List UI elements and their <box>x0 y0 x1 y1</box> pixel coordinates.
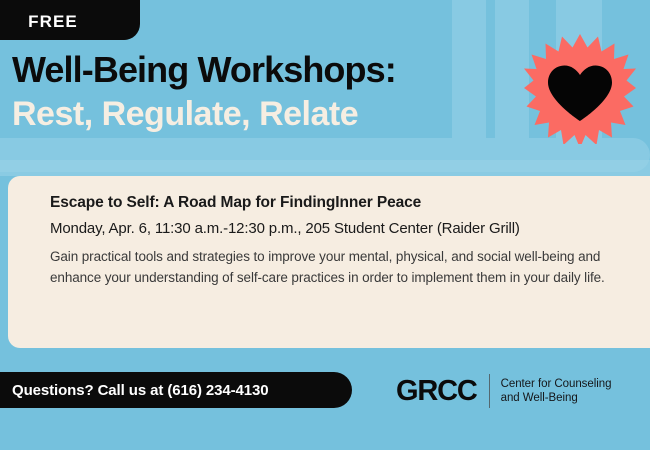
page-subtitle: Rest, Regulate, Relate <box>12 94 532 134</box>
logo-tagline-line1: Center for Counseling <box>501 378 612 390</box>
free-badge: FREE <box>0 0 140 40</box>
flyer-canvas: FREE Well-Being Workshops: Rest, Regulat… <box>0 0 650 450</box>
background-band-lower <box>0 160 650 176</box>
grcc-logo-lockup: GRCC Center for Counseling and Well-Bein… <box>396 372 611 410</box>
grcc-wordmark: GRCC <box>396 375 477 408</box>
logo-tagline-line2: and Well-Being <box>501 392 578 404</box>
heart-starburst-icon <box>524 32 636 144</box>
event-title: Escape to Self: A Road Map for FindingIn… <box>50 194 650 212</box>
event-details: Monday, Apr. 6, 11:30 a.m.-12:30 p.m., 2… <box>50 220 650 237</box>
headline-block: Well-Being Workshops: Rest, Regulate, Re… <box>12 48 532 134</box>
logo-divider <box>489 374 490 408</box>
free-badge-label: FREE <box>28 12 78 32</box>
event-card: Escape to Self: A Road Map for FindingIn… <box>8 176 650 348</box>
questions-pill[interactable]: Questions? Call us at (616) 234-4130 <box>0 372 352 408</box>
logo-tagline: Center for Counseling and Well-Being <box>501 377 612 406</box>
questions-phone-label: Questions? Call us at (616) 234-4130 <box>12 382 269 399</box>
page-title: Well-Being Workshops: <box>12 48 532 92</box>
event-description: Gain practical tools and strategies to i… <box>50 246 650 288</box>
